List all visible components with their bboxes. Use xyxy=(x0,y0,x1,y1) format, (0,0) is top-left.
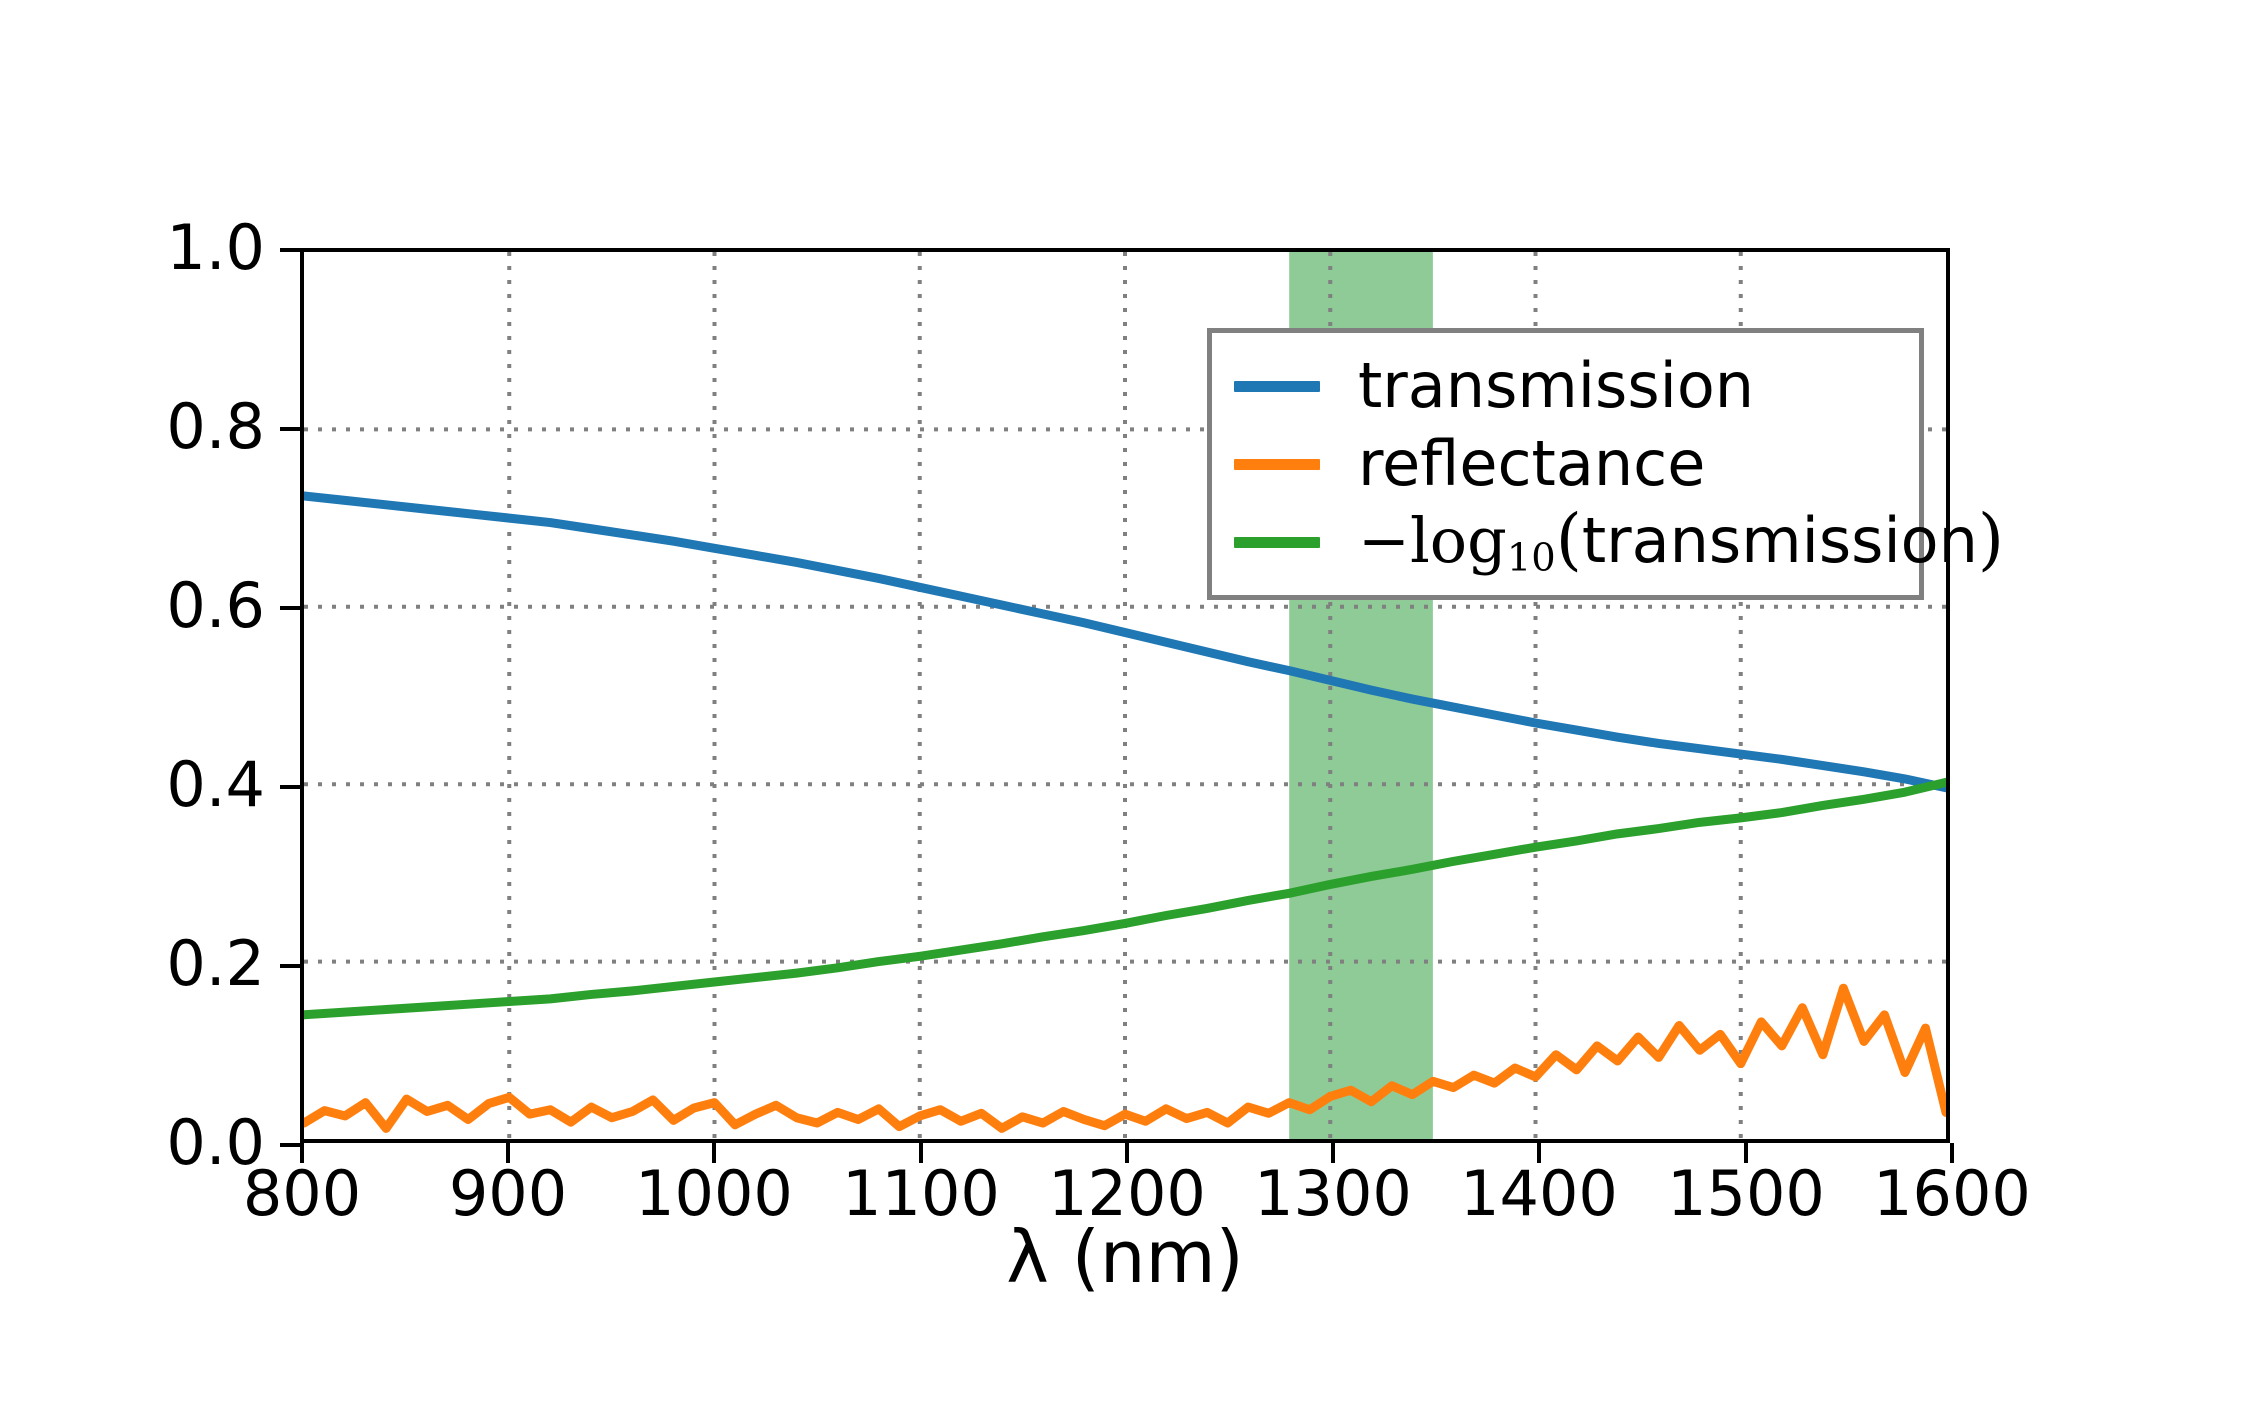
ytick-label-0.2: 0.2 xyxy=(45,933,265,995)
ytick-mark xyxy=(280,1143,300,1147)
ytick-label-1.0: 1.0 xyxy=(45,217,265,279)
minus-sign: − xyxy=(1358,504,1410,577)
ytick-mark xyxy=(280,964,300,968)
log-base: 10 xyxy=(1507,536,1556,581)
ytick-label-0.8: 0.8 xyxy=(45,396,265,458)
legend-label-transmission: transmission xyxy=(1358,355,1754,417)
lambda-symbol: λ xyxy=(1006,1215,1049,1299)
ytick-mark xyxy=(280,785,300,789)
legend-swatch-neg-log10-transmission xyxy=(1234,537,1320,548)
open-paren: ( xyxy=(1556,500,1582,578)
legend-swatch-reflectance xyxy=(1234,459,1320,470)
x-axis-title: λ (nm) xyxy=(0,1215,2250,1299)
inner-text: transmission xyxy=(1582,504,1978,577)
legend-label-neg-log10-transmission: −log10(transmission) xyxy=(1358,506,2004,578)
legend-item-transmission[interactable]: transmission xyxy=(1212,348,1919,424)
legend-item-neg-log10-transmission[interactable]: −log10(transmission) xyxy=(1212,504,1919,580)
figure-canvas: 1.0 0.8 0.6 0.4 0.2 0.0 800 900 1000 110… xyxy=(0,0,2250,1425)
ytick-label-0.4: 0.4 xyxy=(45,754,265,816)
close-paren: ) xyxy=(1978,500,2004,578)
ytick-mark xyxy=(280,427,300,431)
legend-swatch-transmission xyxy=(1234,381,1320,392)
legend-item-reflectance[interactable]: reflectance xyxy=(1212,426,1919,502)
log-text: log xyxy=(1410,504,1507,577)
legend-label-reflectance: reflectance xyxy=(1358,433,1705,495)
ytick-mark xyxy=(280,606,300,610)
x-axis-unit: (nm) xyxy=(1072,1215,1244,1299)
ytick-label-0.6: 0.6 xyxy=(45,575,265,637)
ytick-mark xyxy=(280,248,300,252)
legend-box[interactable]: transmission reflectance −log10(transmis… xyxy=(1207,328,1924,600)
